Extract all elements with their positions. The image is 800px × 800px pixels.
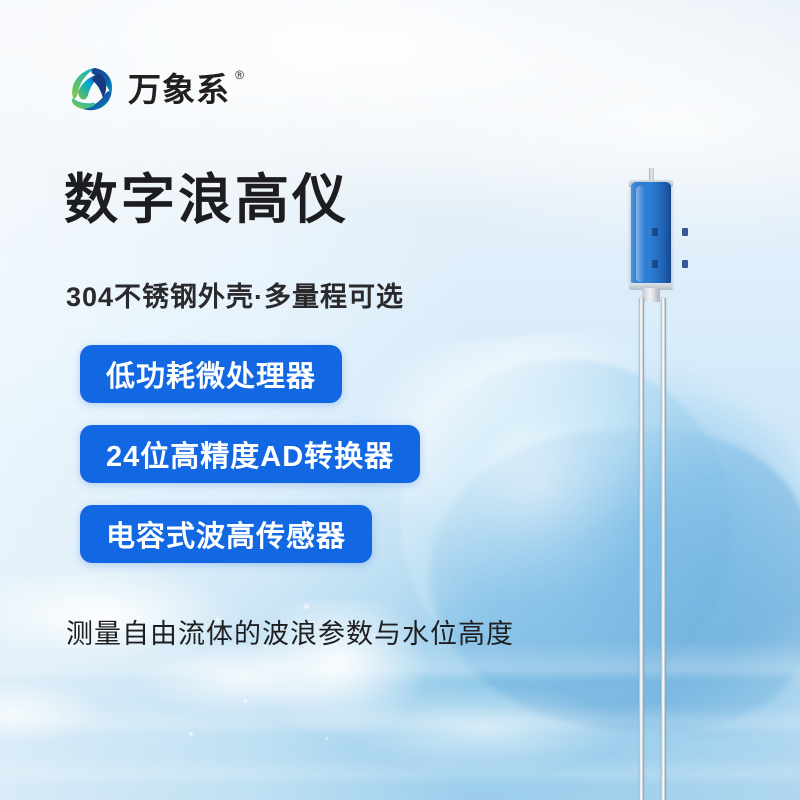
sensor-mark [682, 228, 688, 236]
sensor-mark [682, 260, 688, 268]
sensor-mark [652, 260, 658, 268]
feature-pill-1[interactable]: 低功耗微处理器 [80, 345, 342, 403]
brand-logo: 万象系 ® [64, 62, 230, 116]
product-image-wave-height-sensor [612, 168, 692, 800]
probe-rod-left [639, 298, 644, 800]
feature-pill-3[interactable]: 电容式波高传感器 [80, 505, 372, 563]
brand-name: 万象系 ® [128, 73, 230, 106]
sensor-head-body [631, 182, 671, 286]
page-tagline: 测量自由流体的波浪参数与水位高度 [66, 612, 514, 651]
feature-pill-2[interactable]: 24位高精度AD转换器 [80, 425, 420, 483]
sensor-neck [642, 288, 660, 302]
feature-list: 低功耗微处理器 24位高精度AD转换器 电容式波高传感器 [80, 345, 420, 563]
page-subtitle: 304不锈钢外壳·多量程可选 [66, 275, 404, 314]
sensor-mark [652, 228, 658, 236]
brand-name-text: 万象系 [128, 71, 230, 108]
registered-trademark-icon: ® [235, 69, 245, 81]
product-poster: 万象系 ® 数字浪高仪 304不锈钢外壳·多量程可选 低功耗微处理器 24位高精… [0, 0, 800, 800]
globe-swoosh-logo-icon [64, 62, 118, 116]
probe-rod-right [661, 298, 666, 800]
page-title: 数字浪高仪 [64, 172, 349, 229]
